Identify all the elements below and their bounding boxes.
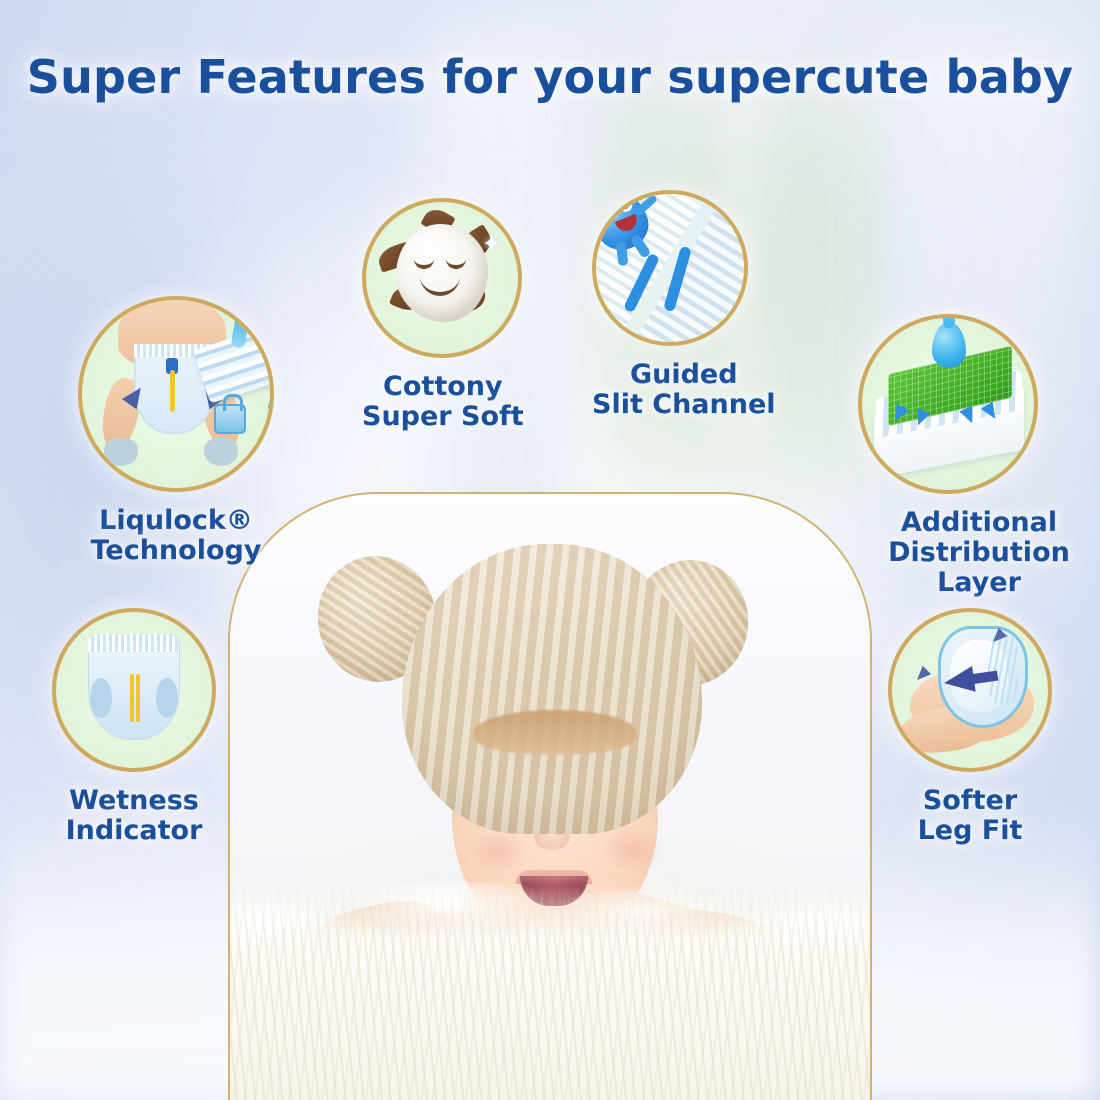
baby-diaper-lock-icon[interactable]	[78, 296, 274, 492]
cotton-boll-smiley-icon[interactable]: ✦	[362, 198, 522, 358]
feature-softer-leg-fit[interactable]: Softer Leg Fit	[888, 608, 1052, 846]
hero-photo-arch	[228, 492, 872, 1100]
baby-hair-fringe	[474, 710, 636, 754]
page-title: Super Features for your supercute baby	[0, 50, 1100, 104]
feature-caption: Wetness Indicator	[52, 786, 216, 846]
feature-poster: Super Features for your supercute baby	[0, 0, 1100, 1100]
diaper-pant-indicator-icon[interactable]	[52, 608, 216, 772]
baby-leg-cuff-icon[interactable]	[888, 608, 1052, 772]
feature-liqulock-technology[interactable]: Liqulock® Technology	[78, 296, 274, 566]
feature-wetness-indicator[interactable]: Wetness Indicator	[52, 608, 216, 846]
baby-cheek-left	[468, 830, 528, 874]
feature-caption: Cottony Super Soft	[362, 372, 524, 432]
baby-cheek-right	[602, 828, 662, 872]
feature-caption: Guided Slit Channel	[592, 360, 776, 420]
feature-guided-slit-channel[interactable]: Guided Slit Channel	[592, 190, 776, 420]
feature-cottony-super-soft[interactable]: ✦ Cottony Super Soft	[362, 198, 524, 432]
baby-photo	[230, 494, 870, 1100]
knit-hat	[402, 544, 702, 834]
feature-caption: Softer Leg Fit	[888, 786, 1052, 846]
feature-caption: Additional Distribution Layer	[858, 508, 1100, 599]
layered-absorbent-core-icon[interactable]	[858, 314, 1038, 494]
fur-rug	[230, 882, 870, 1100]
feature-caption: Liqulock® Technology	[78, 506, 274, 566]
water-droplet-character-icon[interactable]	[592, 190, 748, 346]
feature-additional-distribution-layer[interactable]: Additional Distribution Layer	[858, 314, 1100, 599]
